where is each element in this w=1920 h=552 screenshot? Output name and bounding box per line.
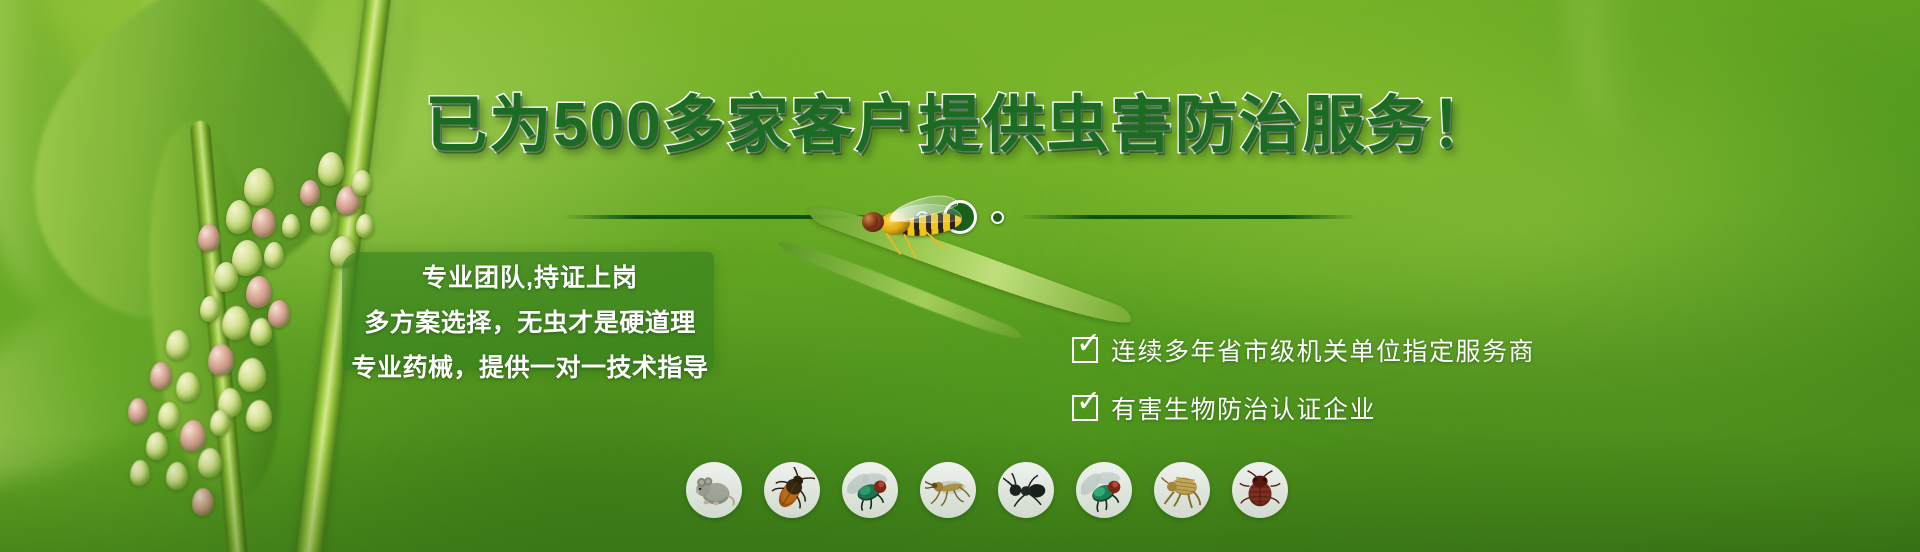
plant-bud	[282, 214, 300, 238]
hoverfly-illustration	[760, 190, 1180, 340]
plant-bud	[146, 432, 168, 460]
plant-bud	[310, 206, 332, 234]
plant-bud	[252, 208, 276, 238]
plant-bud	[198, 448, 222, 478]
selling-points-panel	[342, 252, 714, 370]
plant-bud	[180, 420, 206, 452]
checklist-item-label: 有害生物防治认证企业	[1111, 390, 1376, 426]
plant-bud	[200, 296, 220, 322]
hoverfly-icon	[852, 198, 972, 248]
page-title-text: 已为500多家客户提供虫害防治服务！	[425, 91, 1494, 160]
bedbug-icon[interactable]	[1232, 462, 1288, 518]
blowfly-icon[interactable]	[1076, 462, 1132, 518]
plant-bud	[352, 170, 372, 196]
plant-bud	[244, 168, 274, 206]
check-mark-glyph: ✓	[1076, 387, 1106, 417]
plant-bud	[192, 488, 214, 516]
plant-bud	[166, 462, 188, 490]
plant-bud	[238, 358, 266, 392]
plant-bud	[150, 362, 172, 390]
plant-bud	[198, 224, 220, 252]
fly-leg	[885, 232, 901, 255]
pest-type-icon-strip	[686, 462, 1288, 518]
page-title: 已为500多家客户提供虫害防治服务！	[0, 74, 1920, 164]
fly-eye	[863, 213, 878, 229]
checkbox-checked-icon: ✓	[1072, 395, 1098, 421]
plant-bud	[128, 398, 148, 424]
plant-bud	[222, 306, 250, 340]
checklist-item: ✓ 有害生物防治认证企业	[1072, 390, 1535, 426]
plant-bud	[264, 242, 284, 268]
plant-bud	[176, 372, 200, 402]
checklist-item-label: 连续多年省市级机关单位指定服务商	[1111, 332, 1535, 368]
plant-bud	[158, 402, 180, 430]
plant-bud	[226, 200, 252, 234]
certification-checklist: ✓ 连续多年省市级机关单位指定服务商 ✓ 有害生物防治认证企业	[1072, 332, 1535, 426]
plant-bud	[356, 214, 374, 238]
checkbox-checked-icon: ✓	[1072, 337, 1098, 363]
check-mark-glyph: ✓	[1076, 329, 1106, 359]
pest-control-hero-banner: 已为500多家客户提供虫害防治服务！ 专业团队,持证上岗 多方案选择，无虫才是硬…	[0, 0, 1920, 552]
plant-bud	[166, 330, 190, 360]
plant-bud	[210, 410, 230, 436]
plant-bud	[130, 460, 150, 486]
plant-bud	[246, 400, 272, 432]
plant-bud	[214, 262, 238, 292]
mosquito-icon[interactable]	[920, 462, 976, 518]
flea-icon[interactable]	[1154, 462, 1210, 518]
plant-bud	[300, 180, 320, 206]
ant-icon[interactable]	[998, 462, 1054, 518]
fly-leg	[925, 231, 946, 250]
mouse-icon[interactable]	[686, 462, 742, 518]
checklist-item: ✓ 连续多年省市级机关单位指定服务商	[1072, 332, 1535, 368]
cockroach-icon[interactable]	[764, 462, 820, 518]
plant-bud	[208, 344, 234, 376]
plant-bud	[246, 276, 272, 308]
fly-icon[interactable]	[842, 462, 898, 518]
plant-bud	[268, 300, 290, 328]
